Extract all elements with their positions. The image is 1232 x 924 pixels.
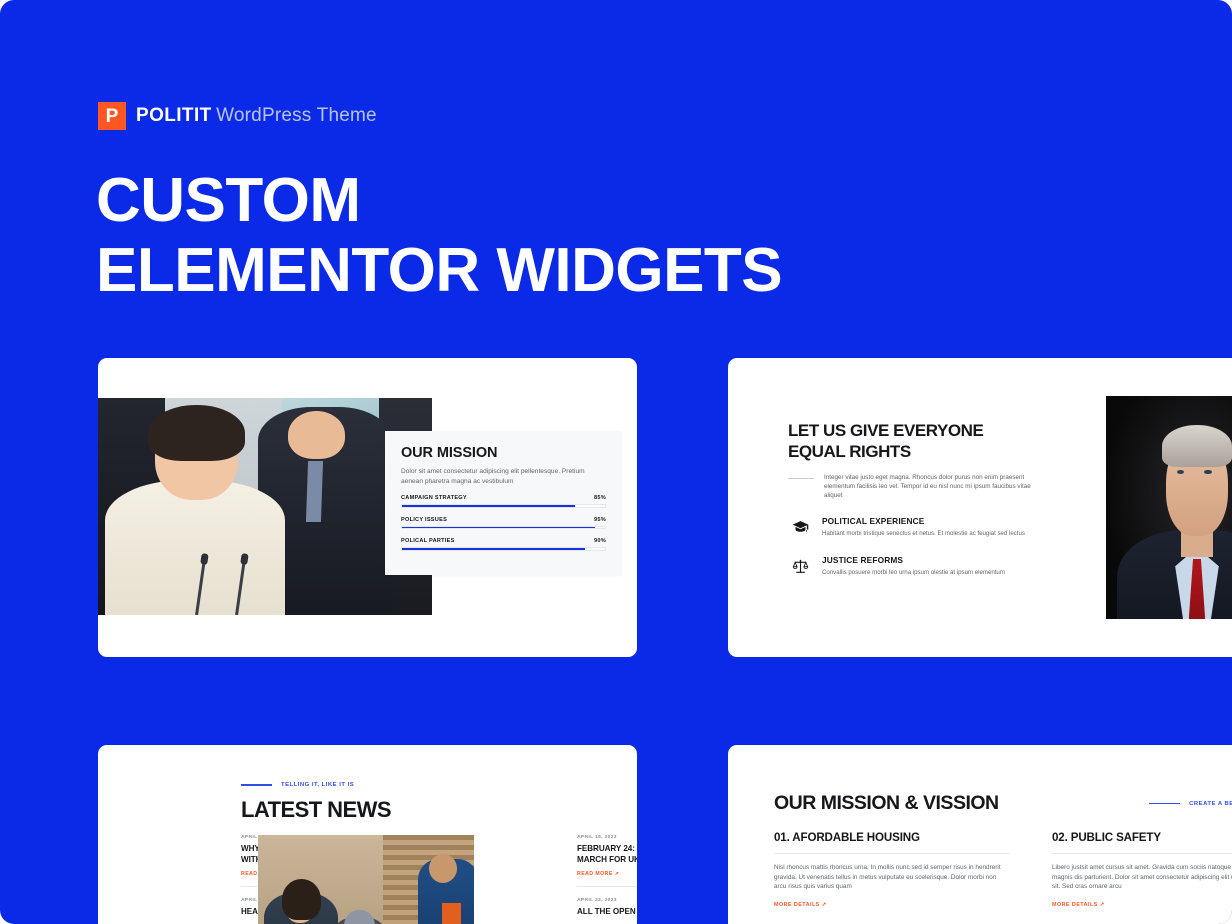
portrait-eye-right [1204, 470, 1211, 474]
graduation-cap-icon [788, 516, 812, 540]
politit-logo-mark: P [98, 102, 126, 130]
news-headline[interactable]: ALL THE OPEN POLITICAL [577, 907, 637, 918]
skill-track [401, 526, 606, 530]
divider [788, 478, 814, 479]
microphone-head [240, 553, 248, 565]
vision-column-body: Nisl rhoncus mattis rhoncus urna. In mol… [774, 863, 1010, 892]
skill-bar-campaign-strategy: CAMPAIGN STRATEGY 85% [401, 495, 606, 508]
skill-label: POLICAL PARTIES [401, 538, 455, 544]
brand-logo[interactable]: P POLITIT WordPress Theme [98, 102, 377, 130]
eyebrow-label: TELLING IT, LIKE IT IS [281, 782, 354, 788]
news-date: APRIL 18, 2023 [577, 835, 637, 840]
microphone-head [200, 553, 208, 565]
card-our-mission[interactable]: OUR MISSION Dolor sit amet consectetur a… [98, 358, 637, 657]
eyebrow-rule [1149, 803, 1180, 804]
feature-description: Convallis posuere morbi leo urna ipsum o… [822, 569, 1005, 578]
news-list-item[interactable]: APRIL 18, 2023 FEBRUARY 24: PROTEST MARC… [577, 835, 637, 887]
divider [774, 853, 1010, 854]
rights-title-line-2: EQUAL RIGHTS [788, 441, 1043, 462]
skill-track [401, 547, 606, 551]
news-date: APRIL 22, 2023 [577, 898, 637, 903]
mission-panel: OUR MISSION Dolor sit amet consectetur a… [385, 431, 622, 575]
vision-title: OUR MISSION & VISSION [774, 792, 999, 815]
vision-column-title: 02. PUBLIC SAFETY [1052, 831, 1232, 844]
vision-eyebrow: CREATE A BETTER WORLD [1149, 801, 1232, 807]
rights-title-line-1: LET US GIVE EVERYONE [788, 420, 1043, 441]
rights-content: LET US GIVE EVERYONE EQUAL RIGHTS Intege… [788, 420, 1043, 579]
news-header: TELLING IT, LIKE IT IS LATEST NEWS [241, 782, 391, 823]
skill-bar-policy-issues: POLICY ISSUES 95% [401, 517, 606, 530]
skill-track [401, 504, 606, 508]
politician-portrait [1106, 396, 1232, 619]
read-more-link[interactable]: READ MORE ↗ [577, 871, 637, 877]
eyebrow-rule [241, 784, 272, 785]
photo-person-one-hair [282, 879, 321, 920]
hero-line-2: ELEMENTOR WIDGETS [96, 236, 782, 306]
vision-column-title: 01. AFORDABLE HOUSING [774, 831, 1010, 844]
skill-value: 85% [594, 495, 606, 501]
card-mission-vission[interactable]: OUR MISSION & VISSION CREATE A BETTER WO… [728, 745, 1232, 924]
skill-value: 90% [594, 538, 606, 544]
skill-value: 95% [594, 517, 606, 523]
more-details-link[interactable]: MORE DETAILS ↗ [774, 902, 1010, 908]
news-title: LATEST NEWS [241, 797, 391, 823]
rights-lede: Integer vitae justo eget magna. Rhoncus … [824, 473, 1043, 501]
card-equal-rights[interactable]: LET US GIVE EVERYONE EQUAL RIGHTS Intege… [728, 358, 1232, 657]
feature-political-experience: POLITICAL EXPERIENCE Habitant morbi tris… [788, 516, 1043, 540]
scales-of-justice-icon [788, 555, 812, 579]
news-headline[interactable]: FEBRUARY 24: PROTEST MARCH FOR UKRAINE [577, 844, 637, 865]
card-latest-news[interactable]: TELLING IT, LIKE IT IS LATEST NEWS APRIL… [98, 745, 637, 924]
feature-title: POLITICAL EXPERIENCE [822, 516, 1025, 526]
mission-description: Dolor sit amet consectetur adipiscing el… [401, 467, 606, 486]
skill-fill [402, 548, 585, 550]
news-photo [258, 835, 474, 924]
hero-heading: CUSTOM ELEMENTOR WIDGETS [96, 166, 782, 306]
divider [1052, 853, 1232, 854]
photo-man-head [288, 411, 345, 459]
presentation-slide: P POLITIT WordPress Theme CUSTOM ELEMENT… [0, 0, 1232, 924]
rights-title: LET US GIVE EVERYONE EQUAL RIGHTS [788, 420, 1043, 462]
mission-title: OUR MISSION [401, 445, 606, 461]
skill-label: POLICY ISSUES [401, 517, 447, 523]
photo-woman-jacket [105, 480, 285, 615]
logo-letter: P [106, 107, 119, 126]
skill-label: CAMPAIGN STRATEGY [401, 495, 467, 501]
photo-man-tie [306, 461, 323, 522]
brand-subtitle: WordPress Theme [216, 105, 377, 126]
vision-column-public-safety: 02. PUBLIC SAFETY Libero justsit amet cu… [1052, 831, 1232, 908]
brand-name: POLITIT [136, 105, 212, 126]
skill-bar-polical-parties: POLICAL PARTIES 90% [401, 538, 606, 551]
feature-description: Habitant morbi tristique senectus et net… [822, 530, 1025, 539]
photo-woman-hair [148, 405, 245, 461]
vision-column-body: Libero justsit amet cursus sit amet. Gra… [1052, 863, 1232, 892]
feature-justice-reforms: JUSTICE REFORMS Convallis posuere morbi … [788, 555, 1043, 579]
photo-person-three-head [429, 854, 457, 883]
brand-text: POLITIT WordPress Theme [136, 105, 377, 127]
vision-header: OUR MISSION & VISSION CREATE A BETTER WO… [774, 792, 1232, 815]
portrait-hair [1162, 425, 1231, 467]
photo-person-three-stripe [442, 903, 461, 924]
feature-title: JUSTICE REFORMS [822, 555, 1005, 565]
more-details-link[interactable]: MORE DETAILS ↗ [1052, 902, 1232, 908]
vision-columns: 01. AFORDABLE HOUSING Nisl rhoncus matti… [774, 831, 1232, 908]
skill-fill [402, 505, 575, 507]
skill-fill [402, 527, 595, 529]
news-eyebrow: TELLING IT, LIKE IT IS [241, 782, 391, 788]
vision-column-affordable-housing: 01. AFORDABLE HOUSING Nisl rhoncus matti… [774, 831, 1010, 908]
eyebrow-label: CREATE A BETTER WORLD [1189, 801, 1232, 807]
news-list-item[interactable]: APRIL 22, 2023 ALL THE OPEN POLITICAL [577, 898, 637, 924]
hero-line-1: CUSTOM [96, 166, 782, 236]
rally-photo [98, 398, 432, 615]
news-column-right: APRIL 18, 2023 FEBRUARY 24: PROTEST MARC… [577, 835, 637, 924]
